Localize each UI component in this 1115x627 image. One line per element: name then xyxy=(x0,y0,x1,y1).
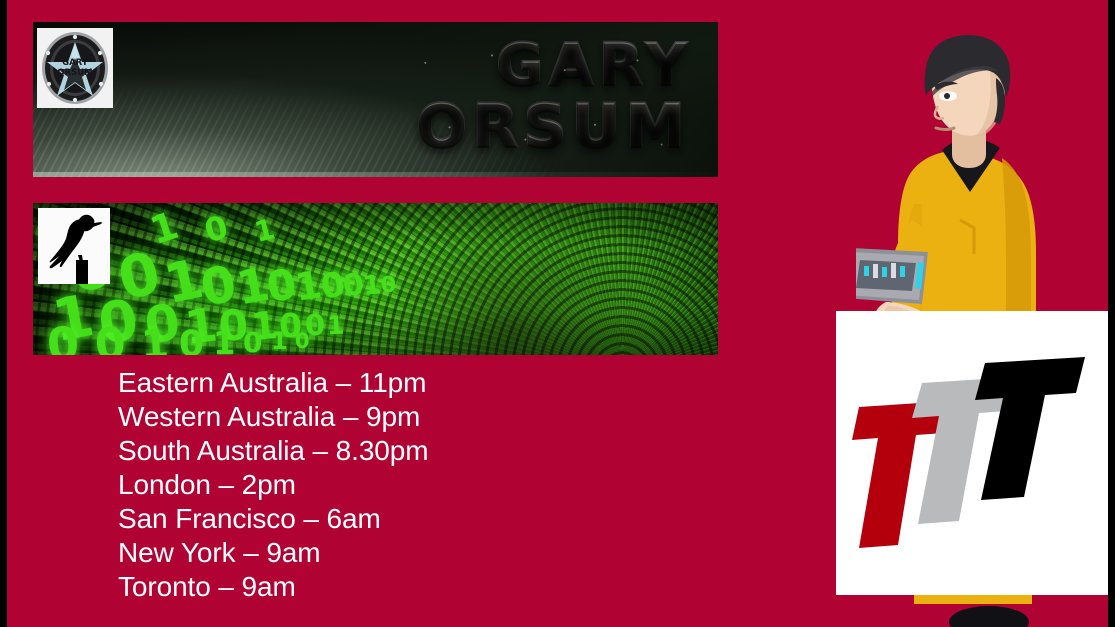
wordmark-line-orsum: ORSUM xyxy=(33,97,692,156)
binary-digit: 1 xyxy=(362,272,382,299)
binary-digit: 0 xyxy=(243,329,262,355)
gary-orsum-wordmark: GARY ORSUM xyxy=(33,36,692,156)
timezone-list: Eastern Australia – 11pm Western Austral… xyxy=(118,366,428,604)
ttt-logo-graphic xyxy=(836,311,1115,595)
crow-silhouette-graphic xyxy=(38,208,110,284)
binary-digit: 0 xyxy=(380,274,397,297)
binary-digit: 1 xyxy=(271,329,288,353)
binary-digit: 1 xyxy=(252,215,278,247)
sheriff-badge-graphic: GARY ORSUM xyxy=(37,28,113,108)
timezone-row-san-francisco: San Francisco – 6am xyxy=(118,502,428,536)
binary-digit: 0 xyxy=(178,327,204,355)
badge-text-gary: GARY xyxy=(62,58,89,68)
officer-boot xyxy=(949,606,1029,627)
left-edge-strip xyxy=(0,0,7,627)
timezone-row-south-australia: South Australia – 8.30pm xyxy=(118,434,428,468)
binary-digit: 0 xyxy=(94,322,128,355)
binary-matrix-banner: 00101010010100101001010100101010 xyxy=(33,203,718,355)
gary-orsum-banner: GARY ORSUM xyxy=(33,22,718,177)
ttt-letter-black xyxy=(975,357,1085,500)
timezone-row-western-australia: Western Australia – 9pm xyxy=(118,400,428,434)
timezone-row-new-york: New York – 9am xyxy=(118,536,428,570)
timezone-row-toronto: Toronto – 9am xyxy=(118,570,428,604)
binary-digit: 0 xyxy=(201,211,231,248)
officer-pupil xyxy=(944,93,950,99)
binary-digit: 0 xyxy=(295,331,310,352)
binary-digit: 1 xyxy=(327,313,345,339)
binary-digit: 0 xyxy=(45,320,81,355)
crow-silhouette-logo xyxy=(38,208,110,284)
timezone-row-london: London – 2pm xyxy=(118,468,428,502)
ttt-logo xyxy=(836,311,1115,595)
timezone-row-eastern-australia: Eastern Australia – 11pm xyxy=(118,366,428,400)
right-edge-strip xyxy=(1108,0,1115,627)
badge-text-orsum: ORSUM xyxy=(57,68,92,78)
banner-bottom-glow xyxy=(33,172,718,177)
officer-mouth xyxy=(936,128,954,130)
binary-digit: 1 xyxy=(213,327,236,355)
wordmark-line-gary: GARY xyxy=(33,36,692,93)
handheld-tablet-device xyxy=(856,248,928,304)
gary-orsum-sheriff-badge: GARY ORSUM xyxy=(37,28,113,108)
binary-digit: 1 xyxy=(140,324,170,355)
slide-canvas: GARY ORSUM xyxy=(0,0,1115,627)
matrix-binary-digits: 00101010010100101001010100101010 xyxy=(33,203,718,355)
